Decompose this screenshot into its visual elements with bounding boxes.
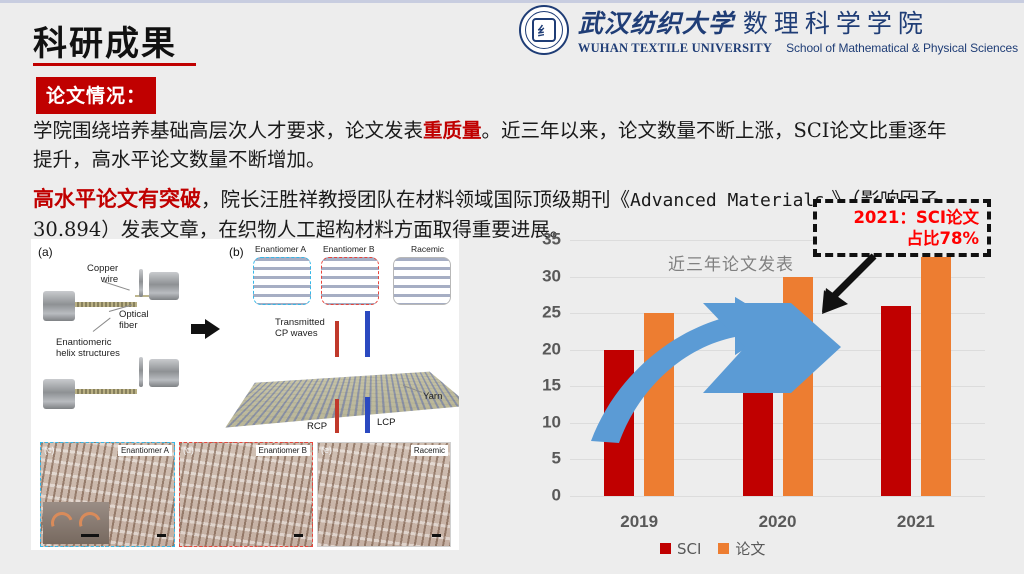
y-axis-tick-10: 10 bbox=[542, 412, 561, 432]
research-figure: (a) Copper wire Optical fiber Enantiomer… bbox=[31, 239, 459, 550]
enantiomer-b-swatch bbox=[321, 257, 379, 305]
legend-label-论文: 论文 bbox=[735, 538, 765, 559]
transition-arrow-head bbox=[205, 319, 220, 339]
journal-name: Advanced Materials bbox=[630, 190, 825, 211]
legend-label-SCI: SCI bbox=[677, 540, 701, 558]
rcp-wave-bottom bbox=[335, 399, 339, 433]
panel-b-letter: (b) bbox=[229, 245, 244, 259]
y-axis-tick-25: 25 bbox=[542, 303, 561, 323]
title-underline bbox=[33, 63, 196, 66]
para1-part-a: 学院围绕培养基础高层次人才要求，论文发表 bbox=[33, 119, 423, 142]
para2-part-a: ，院长汪胜祥教授团队在材料领域国际顶级期刊《 bbox=[201, 188, 630, 211]
micrograph-panel-d: (d) Enantiomer B bbox=[179, 442, 313, 547]
panel-c-inset bbox=[43, 502, 109, 544]
panel-c-scalebar-left bbox=[81, 534, 99, 537]
chart-legend: SCI论文 bbox=[660, 538, 765, 559]
callout-line-1: 2021：SCI论文 bbox=[853, 207, 979, 228]
section-badge: 论文情况： bbox=[36, 77, 156, 114]
label-transmitted-cp-waves: Transmitted CP waves bbox=[275, 317, 325, 339]
fiber-vertical-2 bbox=[139, 357, 143, 387]
chart-plot-area: 35302520151050201920202021 bbox=[570, 240, 985, 496]
label-helix-structures: Enantiomeric helix structures bbox=[56, 337, 120, 359]
header-top-rule bbox=[0, 0, 1024, 3]
inset-coil-1 bbox=[47, 508, 76, 537]
lcp-wave-top bbox=[365, 311, 370, 357]
y-axis-tick-15: 15 bbox=[542, 376, 561, 396]
university-logo: 纟 武汉纺织大学 数理科学学院 WUHAN TEXTILE UNIVERSITY… bbox=[519, 4, 1018, 56]
slide-root: 科研成果 论文情况： 纟 武汉纺织大学 数理科学学院 WUHAN TEXTILE… bbox=[0, 0, 1024, 574]
x-axis-label-2019: 2019 bbox=[620, 512, 658, 532]
helix-rod-2 bbox=[75, 389, 137, 394]
transition-arrow-stem bbox=[191, 324, 205, 334]
panel-e-scalebar bbox=[432, 534, 441, 537]
logo-university-en: WUHAN TEXTILE UNIVERSITY bbox=[578, 41, 772, 56]
seal-core-glyph: 纟 bbox=[532, 18, 556, 42]
y-axis-tick-20: 20 bbox=[542, 339, 561, 359]
panel-e-caption: Racemic bbox=[411, 445, 448, 456]
y-axis-tick-30: 30 bbox=[542, 266, 561, 286]
lcp-wave-bottom bbox=[365, 397, 370, 433]
bar-论文-2019 bbox=[644, 313, 674, 496]
label-lcp: LCP bbox=[377, 417, 395, 428]
logo-text-block: 武汉纺织大学 数理科学学院 WUHAN TEXTILE UNIVERSITY S… bbox=[578, 4, 1018, 56]
label-optical-fiber: Optical fiber bbox=[119, 309, 149, 331]
callout-box: 2021：SCI论文 占比78% bbox=[813, 199, 991, 257]
leader-line-helix bbox=[93, 318, 111, 332]
caption-enantiomer-a-top: Enantiomer A bbox=[255, 244, 306, 254]
panel-d-scalebar bbox=[294, 534, 303, 537]
y-axis-tick-5: 5 bbox=[552, 449, 561, 469]
legend-swatch-论文 bbox=[718, 543, 729, 554]
paragraph-1: 学院围绕培养基础高层次人才要求，论文发表重质量。近三年以来，论文数量不断上涨，S… bbox=[33, 116, 953, 174]
figure-top-half: (a) Copper wire Optical fiber Enantiomer… bbox=[31, 239, 459, 437]
legend-item-论文[interactable]: 论文 bbox=[718, 538, 765, 559]
fiber-vertical-1 bbox=[139, 269, 143, 297]
x-axis-label-2020: 2020 bbox=[759, 512, 797, 532]
logo-english-row: WUHAN TEXTILE UNIVERSITY School of Mathe… bbox=[578, 41, 1018, 56]
helix-cylinder-left-2 bbox=[43, 379, 75, 409]
para2-highlight: 高水平论文有突破 bbox=[33, 187, 201, 211]
logo-school-en: School of Mathematical & Physical Scienc… bbox=[786, 41, 1018, 55]
panel-c-scalebar-right bbox=[157, 534, 166, 537]
panel-d-letter: (d) bbox=[183, 445, 194, 455]
chart-gridline: 0 bbox=[570, 496, 985, 497]
micrograph-panel-e: (e) Racemic bbox=[317, 442, 451, 547]
enantiomer-a-swatch bbox=[253, 257, 311, 305]
logo-university-cn: 武汉纺织大学 bbox=[578, 4, 734, 40]
logo-chinese-row: 武汉纺织大学 数理科学学院 bbox=[578, 4, 1018, 40]
bar-SCI-2021 bbox=[881, 306, 911, 496]
racemic-swatch bbox=[393, 257, 451, 305]
publications-bar-chart: 近三年论文发表 35302520151050201920202021 SCI论文 bbox=[505, 232, 1015, 567]
para1-highlight: 重质量 bbox=[423, 119, 482, 142]
caption-racemic-top: Racemic bbox=[411, 244, 444, 254]
callout-line-2: 占比78% bbox=[907, 228, 980, 249]
figure-bottom-half: (c) Enantiomer A (d) Enantiomer B (e) Ra… bbox=[31, 439, 459, 550]
panel-c-caption: Enantiomer A bbox=[118, 445, 172, 456]
bar-论文-2021 bbox=[921, 255, 951, 496]
y-axis-tick-35: 35 bbox=[542, 230, 561, 250]
x-axis-label-2021: 2021 bbox=[897, 512, 935, 532]
bar-SCI-2019 bbox=[604, 350, 634, 496]
helix-cylinder-right-2 bbox=[149, 359, 179, 387]
panel-e-letter: (e) bbox=[321, 445, 332, 455]
label-yarn: Yarn bbox=[423, 391, 442, 402]
panel-d-caption: Enantiomer B bbox=[256, 445, 310, 456]
y-axis-tick-0: 0 bbox=[552, 486, 561, 506]
panel-c-letter: (c) bbox=[44, 445, 55, 455]
logo-school-cn: 数理科学学院 bbox=[743, 4, 929, 40]
micrograph-panel-c: (c) Enantiomer A bbox=[40, 442, 175, 547]
page-title: 科研成果 bbox=[33, 16, 177, 65]
legend-item-SCI[interactable]: SCI bbox=[660, 540, 701, 558]
helix-cylinder-left-1 bbox=[43, 291, 75, 321]
panel-a-letter: (a) bbox=[38, 245, 53, 259]
legend-swatch-SCI bbox=[660, 543, 671, 554]
callout-pointer-arrow-icon bbox=[800, 250, 880, 330]
label-rcp: RCP bbox=[307, 421, 327, 432]
bar-SCI-2020 bbox=[743, 364, 773, 496]
rcp-wave-top bbox=[335, 321, 339, 357]
helix-cylinder-right-1 bbox=[149, 272, 179, 300]
caption-enantiomer-b-top: Enantiomer B bbox=[323, 244, 375, 254]
university-seal-icon: 纟 bbox=[519, 5, 569, 55]
